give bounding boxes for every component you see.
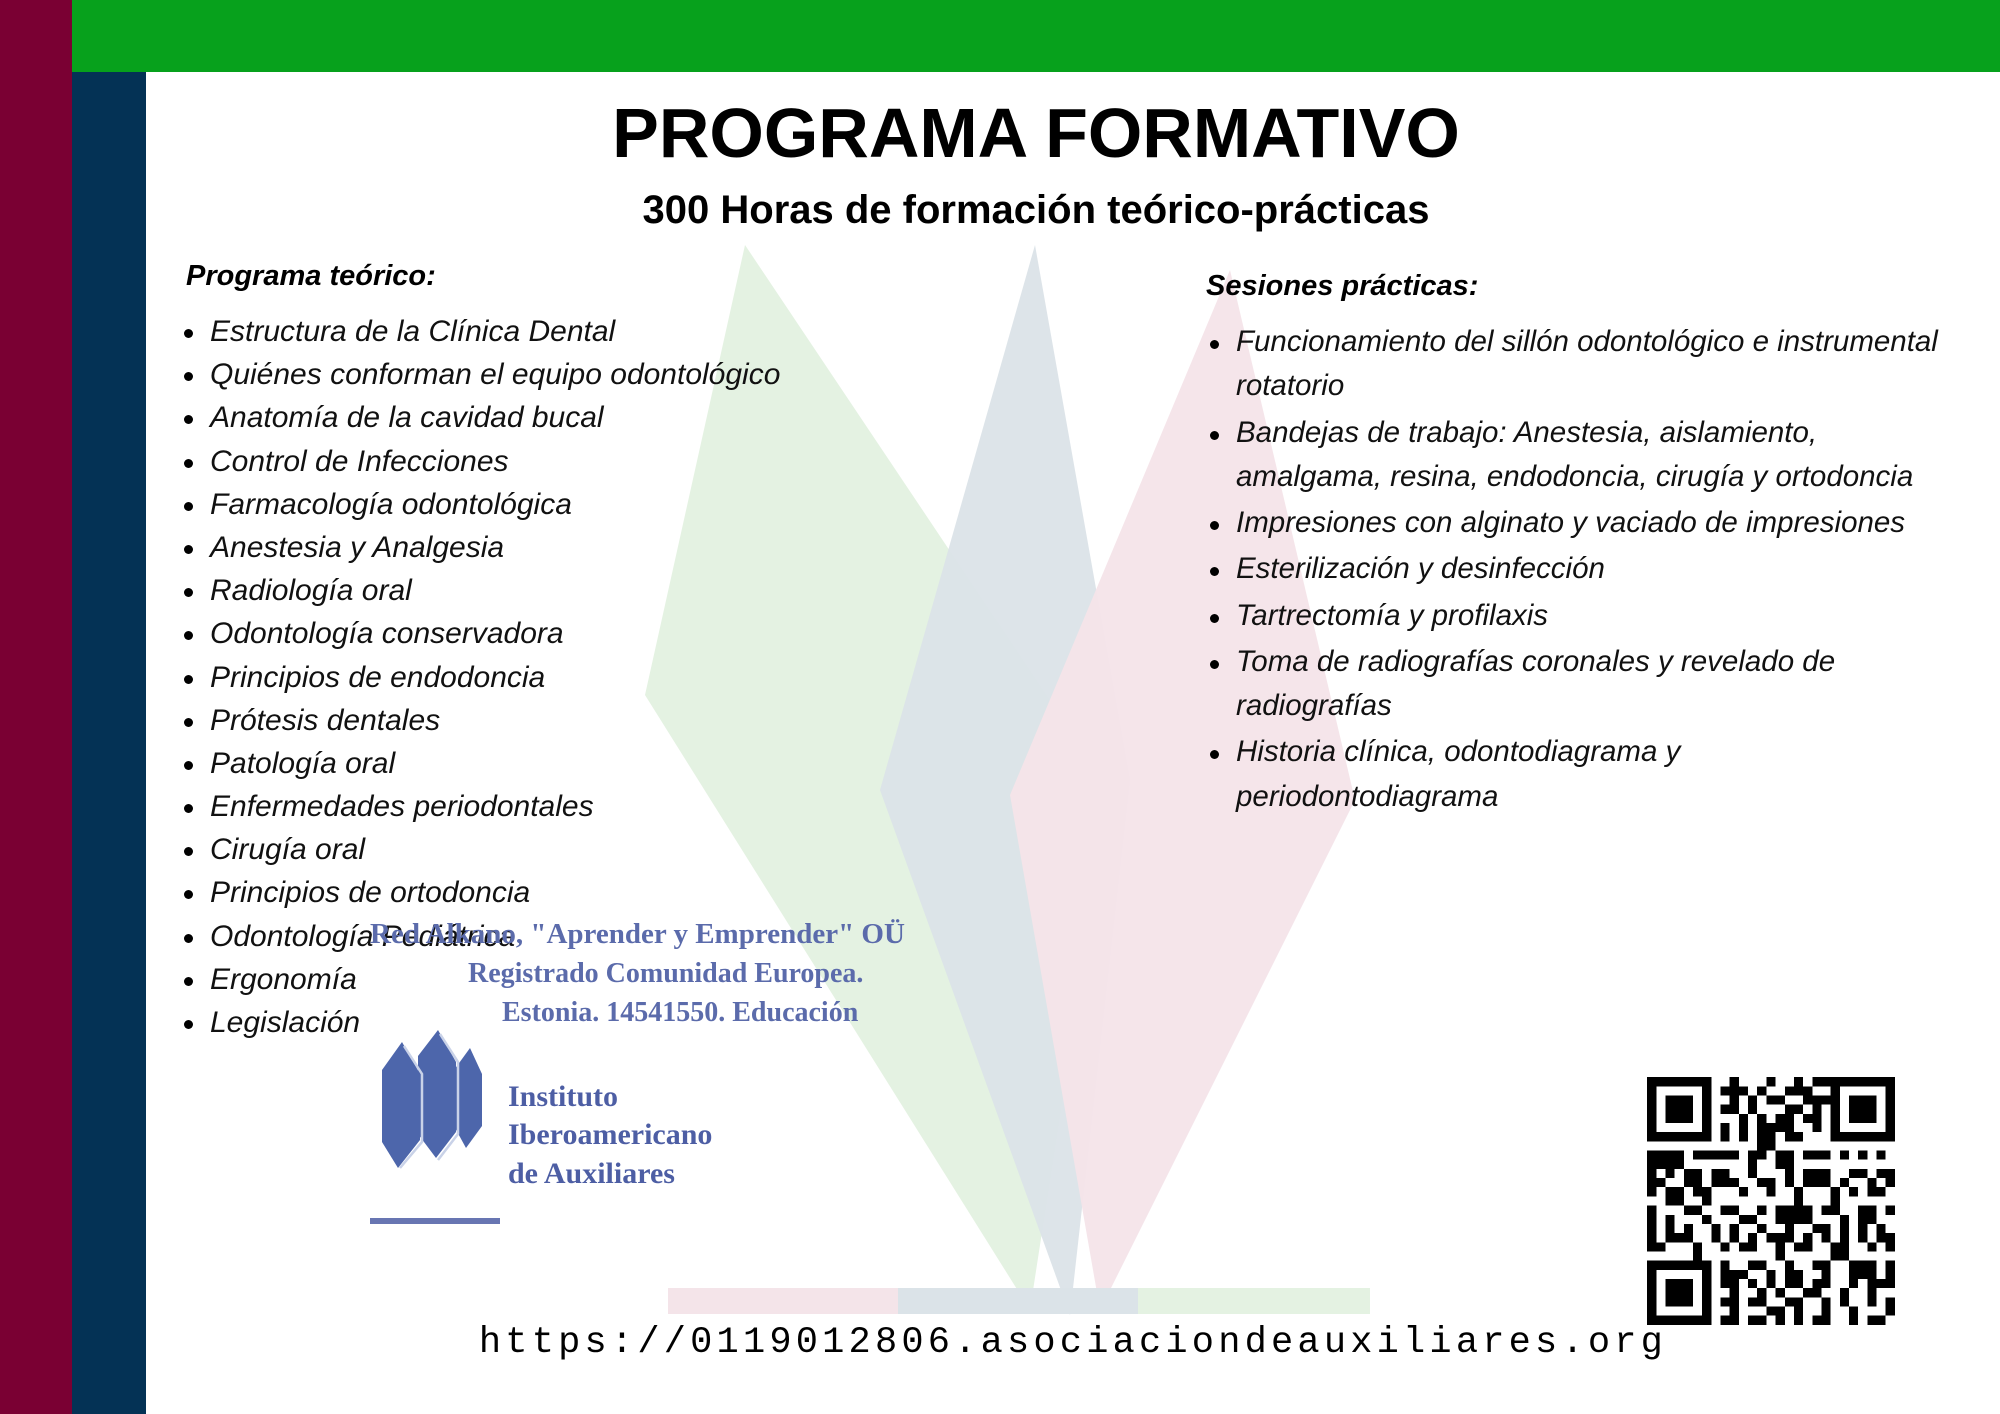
practice-heading: Sesiones prácticas:: [1206, 270, 1946, 303]
list-item: Anatomía de la cavidad bucal: [146, 396, 886, 439]
page-title: PROGRAMA FORMATIVO: [146, 97, 1926, 171]
list-item: Patología oral: [146, 742, 886, 785]
logo-line-1: Red Alkano, "Aprender y Emprender" OÜ: [370, 918, 970, 951]
list-item: Bandejas de trabajo: Anestesia, aislamie…: [1176, 411, 1946, 500]
practice-column: Sesiones prácticas: Funcionamiento del s…: [1176, 270, 1946, 821]
list-item: Toma de radiografías coronales y revelad…: [1176, 640, 1946, 729]
flame-logo-icon: [358, 1022, 490, 1172]
list-item: Prótesis dentales: [146, 699, 886, 742]
theory-heading: Programa teórico:: [186, 260, 886, 293]
left-navy-bar: [72, 72, 146, 1414]
institute-line-3: de Auxiliares: [508, 1155, 712, 1193]
list-item: Anestesia y Analgesia: [146, 526, 886, 569]
list-item: Odontología conservadora: [146, 612, 886, 655]
organization-logo-block: Red Alkano, "Aprender y Emprender" OÜ Re…: [330, 918, 970, 1029]
institute-line-1: Instituto: [508, 1078, 712, 1116]
logo-line-2: Registrado Comunidad Europea.: [468, 958, 970, 990]
list-item: Cirugía oral: [146, 828, 886, 871]
list-item: Impresiones con alginato y vaciado de im…: [1176, 501, 1946, 545]
website-url[interactable]: https://0119012806.asociaciondeauxiliare…: [146, 1322, 2000, 1364]
logo-underline: [370, 1218, 500, 1224]
list-item: Tartrectomía y profilaxis: [1176, 594, 1946, 638]
list-item: Farmacología odontológica: [146, 483, 886, 526]
institute-line-2: Iberoamericano: [508, 1116, 712, 1154]
institute-name: Instituto Iberoamericano de Auxiliares: [508, 1078, 712, 1193]
list-item: Principios de endodoncia: [146, 656, 886, 699]
list-item: Funcionamiento del sillón odontológico e…: [1176, 320, 1946, 409]
list-item: Radiología oral: [146, 569, 886, 612]
page-subtitle: 300 Horas de formación teórico-prácticas: [146, 188, 1926, 233]
list-item: Estructura de la Clínica Dental: [146, 310, 886, 353]
practice-list: Funcionamiento del sillón odontológico e…: [1176, 320, 1946, 819]
list-item: Principios de ortodoncia: [146, 871, 886, 914]
list-item: Control de Infecciones: [146, 440, 886, 483]
list-item: Enfermedades periodontales: [146, 785, 886, 828]
list-item: Historia clínica, odontodiagrama y perio…: [1176, 730, 1946, 819]
list-item: Esterilización y desinfección: [1176, 547, 1946, 591]
list-item: Quiénes conforman el equipo odontológico: [146, 353, 886, 396]
logo-line-3: Estonia. 14541550. Educación: [502, 997, 970, 1029]
poster-page: PROGRAMA FORMATIVO 300 Horas de formació…: [0, 0, 2000, 1414]
left-maroon-bar: [0, 0, 72, 1414]
top-green-bar: [72, 0, 2000, 72]
qr-code[interactable]: [1638, 1068, 1904, 1334]
